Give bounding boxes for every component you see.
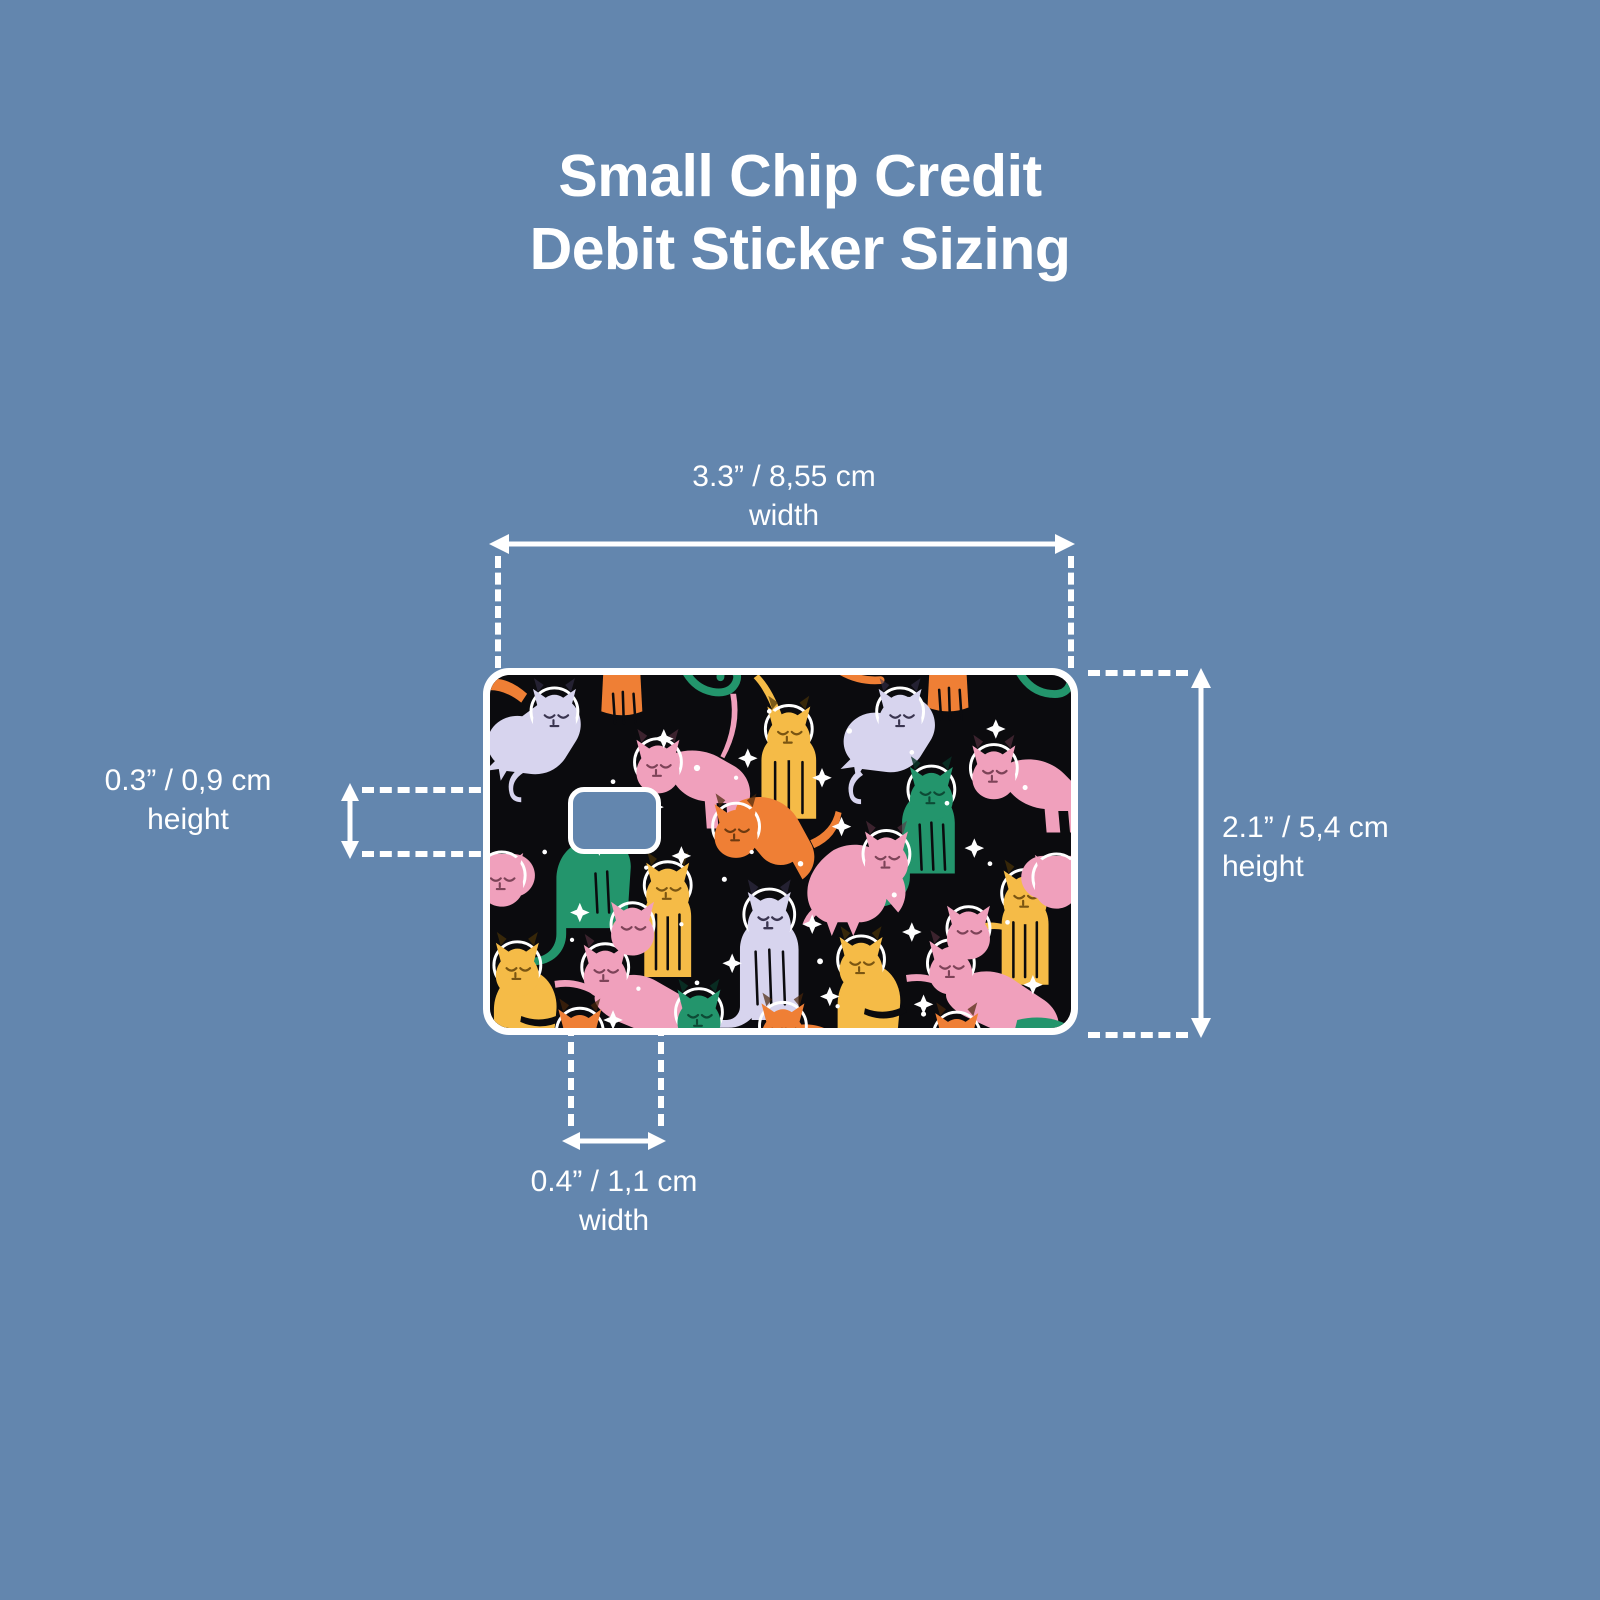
card-height-label: 2.1” / 5,4 cm height [1222,808,1562,886]
card-width-label: 3.3” / 8,55 cm width [534,457,1034,535]
card-height-guide-top [1088,670,1188,676]
card-width-value: 3.3” / 8,55 cm [534,457,1034,496]
sizing-diagram: Small Chip Credit Debit Sticker Sizing 3… [0,0,1600,1600]
card-width-guide-right [1068,556,1074,668]
chip-width-arrow [562,1126,666,1156]
card-preview[interactable] [483,668,1078,1035]
chip-height-unit: height [48,800,328,839]
card-width-guide-left [495,556,501,668]
chip-height-value: 0.3” / 0,9 cm [48,761,328,800]
chip-height-arrow [335,783,365,859]
card-width-arrow [489,528,1075,560]
chip-width-label: 0.4” / 1,1 cm width [364,1162,864,1240]
chip-width-unit: width [364,1201,864,1240]
chip-width-value: 0.4” / 1,1 cm [364,1162,864,1201]
card-height-unit: height [1222,847,1562,886]
card-height-value: 2.1” / 5,4 cm [1222,808,1562,847]
page-title-line-1: Small Chip Credit [0,140,1600,213]
card-height-guide-bottom [1088,1032,1188,1038]
chip-cutout [568,787,661,854]
page-title: Small Chip Credit Debit Sticker Sizing [0,140,1600,286]
page-title-line-2: Debit Sticker Sizing [0,213,1600,286]
chip-height-label: 0.3” / 0,9 cm height [48,761,328,839]
card-height-arrow [1185,668,1217,1038]
